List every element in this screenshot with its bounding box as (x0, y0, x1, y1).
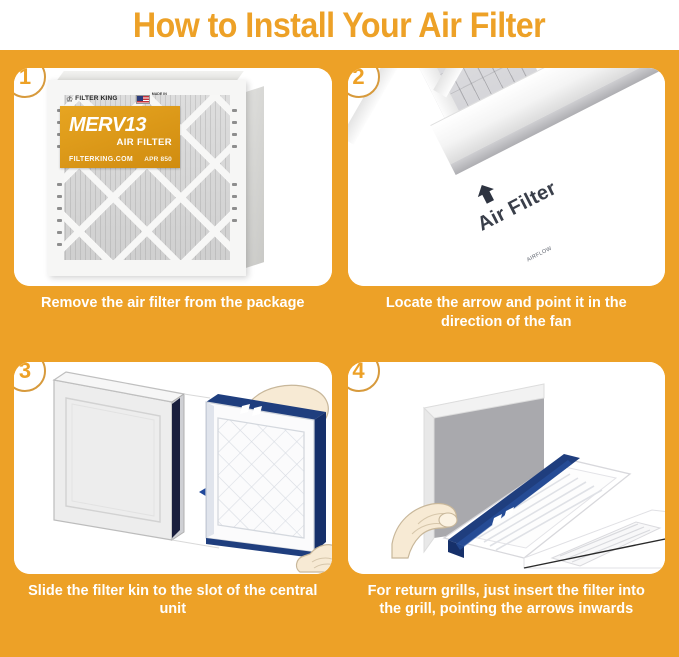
usa-flag-icon (136, 95, 150, 104)
blue-filter-panel (206, 394, 326, 558)
step-2-image-card: Air Filter AIRFLOW 2 (348, 68, 666, 286)
product-apr: APR 850 (144, 156, 172, 163)
step-card-2: Air Filter AIRFLOW 2 Locate the arrow an… (348, 68, 666, 352)
filter-rail-bottom (55, 260, 239, 269)
step-caption-1: Remove the air filter from the package (14, 286, 332, 313)
insert-filter-into-return-grill-illustration (348, 362, 666, 574)
filter-rail-right (230, 87, 239, 269)
step-card-4: 4 For return grills, just insert the fil… (348, 362, 666, 646)
step-card-1: ♔ FILTER KING MADE IN USA MERV13 (14, 68, 332, 352)
central-unit-body (54, 372, 184, 540)
step-3-image-card: 3 (14, 362, 332, 574)
header-bar: How to Install Your Air Filter (0, 0, 679, 50)
step-card-3: 3 Slide the filter kin to the slot of th… (14, 362, 332, 646)
page-title: How to Install Your Air Filter (133, 8, 545, 43)
step-caption-3: Slide the filter kin to the slot of the … (14, 574, 332, 619)
filter-corner-body (348, 68, 666, 281)
slide-filter-into-central-unit-illustration (14, 362, 332, 574)
product-label: MERV13 AIR FILTER FILTERKING.COM APR 850 (60, 106, 180, 168)
made-in-label: MADE IN (152, 92, 167, 96)
step-caption-2: Locate the arrow and point it in the dir… (348, 286, 666, 331)
merv13-air-filter-photo: ♔ FILTER KING MADE IN USA MERV13 (14, 68, 332, 286)
steps-grid: ♔ FILTER KING MADE IN USA MERV13 (0, 50, 679, 657)
product-website: FILTERKING.COM (69, 156, 133, 163)
brand-name: FILTER KING (75, 96, 118, 103)
step-caption-4: For return grills, just insert the filte… (348, 574, 666, 619)
filter-frame-arrow-closeup: Air Filter AIRFLOW (348, 68, 666, 286)
crown-icon: ♔ (66, 95, 73, 104)
step-1-image-card: ♔ FILTER KING MADE IN USA MERV13 (14, 68, 332, 286)
step-4-image-card: 4 (348, 362, 666, 574)
product-brand-row: ♔ FILTER KING MADE IN USA (66, 92, 184, 107)
product-subtitle: AIR FILTER (116, 137, 172, 148)
filter-king-logo: ♔ FILTER KING (66, 95, 118, 104)
merv-rating: MERV13 (69, 115, 146, 135)
